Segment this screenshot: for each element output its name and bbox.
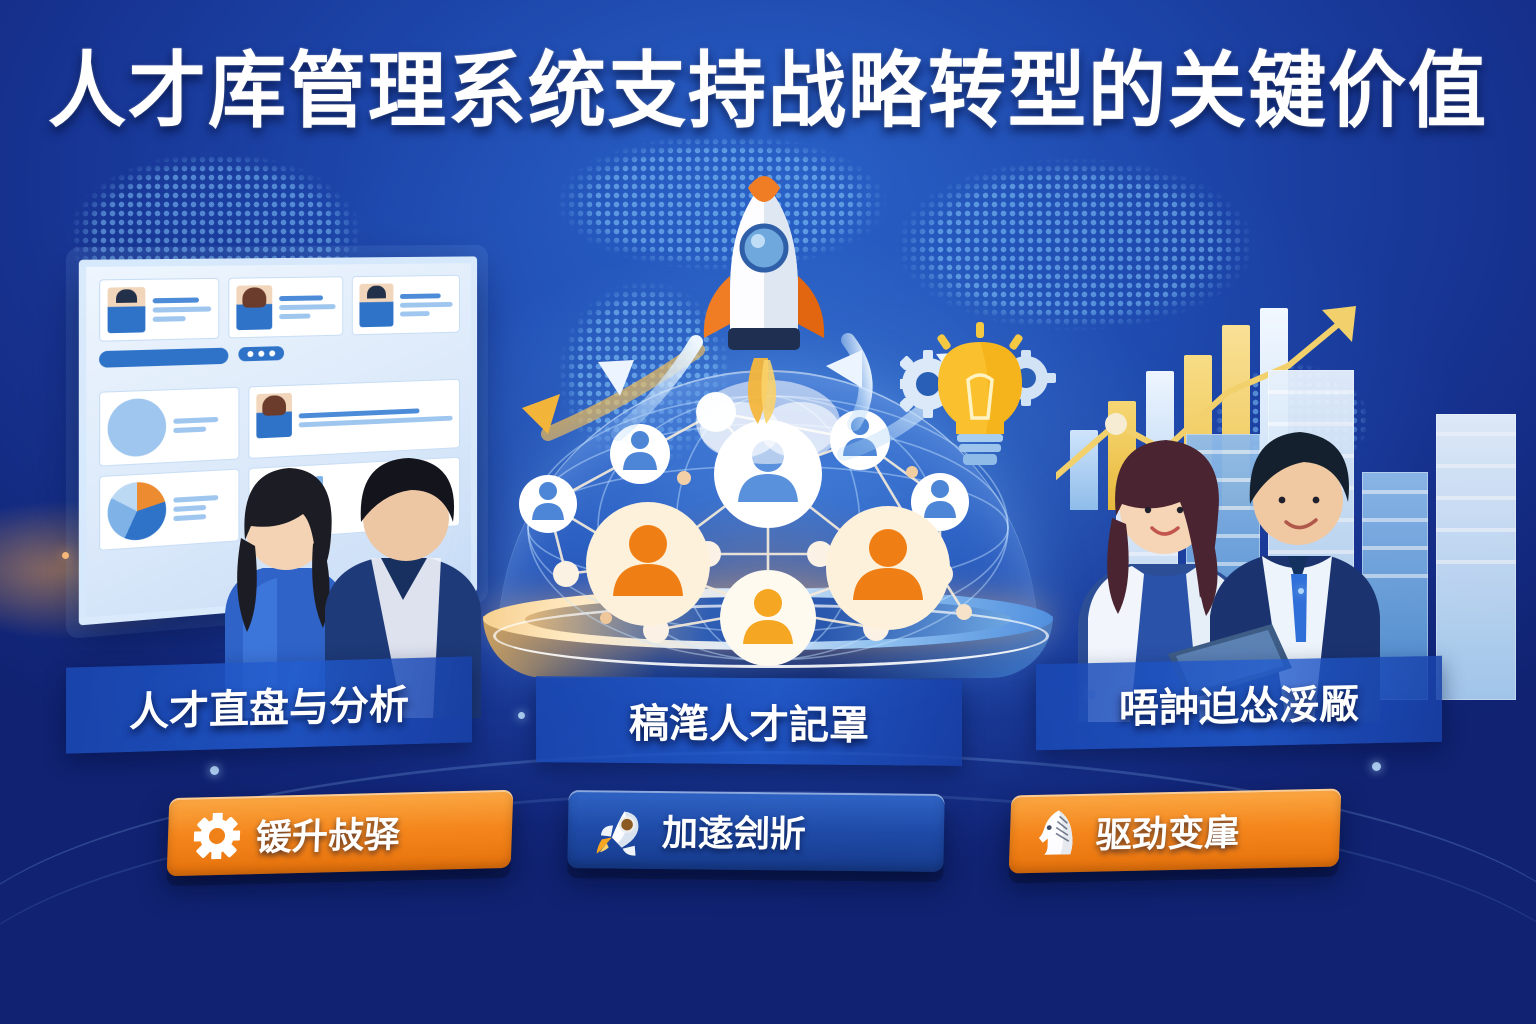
text-line (153, 316, 186, 322)
profile-card (351, 275, 459, 336)
sparkle (1372, 762, 1381, 771)
dashboard-filter-bar (99, 341, 460, 381)
text-line (153, 306, 212, 312)
filter-pill (99, 348, 228, 368)
value-banner-group: 人才直盘与分析 稿滗人才記罩 唔訲迫怂浽厰 (0, 648, 1536, 760)
banner-strategy-execution[interactable]: 唔訲迫怂浽厰 (1036, 656, 1442, 751)
sparkle (1298, 588, 1304, 594)
avatar (108, 287, 146, 333)
page-title-container: 人才库管理系统支持战略转型的关键价值 (0, 52, 1536, 130)
profile-text-lines (400, 283, 453, 327)
button-label: 加逺刽斨 (662, 804, 807, 857)
text-line (153, 297, 199, 303)
button-label: 驱劲变肁 (1095, 804, 1241, 859)
avatar (359, 283, 393, 327)
donut-chart (108, 398, 167, 458)
profile-text-lines (279, 284, 335, 329)
banner-talent-analysis[interactable]: 人才直盘与分析 (66, 656, 472, 753)
banner-label: 唔訲迫怂浽厰 (1036, 670, 1442, 737)
banner-label: 人才直盘与分析 (66, 670, 472, 739)
text-line (279, 313, 310, 319)
infographic-poster: 人才库管理系统支持战略转型的关键价值 (0, 0, 1536, 1024)
rocket-icon (704, 176, 824, 350)
text-line (400, 293, 441, 299)
lightbulb-icon (938, 342, 1022, 465)
text-line (400, 301, 453, 307)
innovation-idea-group (900, 322, 1060, 472)
profile-card (229, 276, 343, 338)
network-node-primary-right (826, 506, 950, 630)
banner-label: 稿滗人才記罩 (536, 690, 962, 752)
text-line (400, 311, 430, 316)
button-innovation[interactable]: 加逺刽斨 (567, 790, 944, 872)
profile-text-lines (153, 286, 212, 332)
button-label: 锾升敊驿 (255, 806, 401, 862)
banner-talent-allocation[interactable]: 稿滗人才記罩 (536, 676, 962, 766)
text-line (279, 304, 335, 310)
button-efficiency[interactable]: 锾升敊驿 (167, 790, 514, 876)
dashboard-row-profiles-top (99, 275, 460, 342)
page-title: 人才库管理系统支持战略转型的关键价值 (48, 50, 1488, 133)
text-line (279, 295, 323, 301)
cta-button-group: 锾升敊驿 加逺刽斨 (0, 788, 1536, 898)
network-node-secondary (519, 475, 577, 533)
rocket-exhaust (696, 358, 840, 464)
more-options-icon (239, 346, 285, 361)
button-transform[interactable]: 驱劲变肁 (1009, 789, 1342, 874)
chess-knight-icon (1035, 808, 1081, 859)
avatar (237, 285, 273, 330)
sparkle (210, 766, 219, 775)
network-node-primary-left (586, 502, 710, 626)
profile-card (99, 278, 220, 342)
pie-chart (108, 481, 167, 542)
sparkle (62, 552, 69, 559)
gear-icon (193, 812, 241, 859)
rocket-icon (594, 803, 647, 856)
